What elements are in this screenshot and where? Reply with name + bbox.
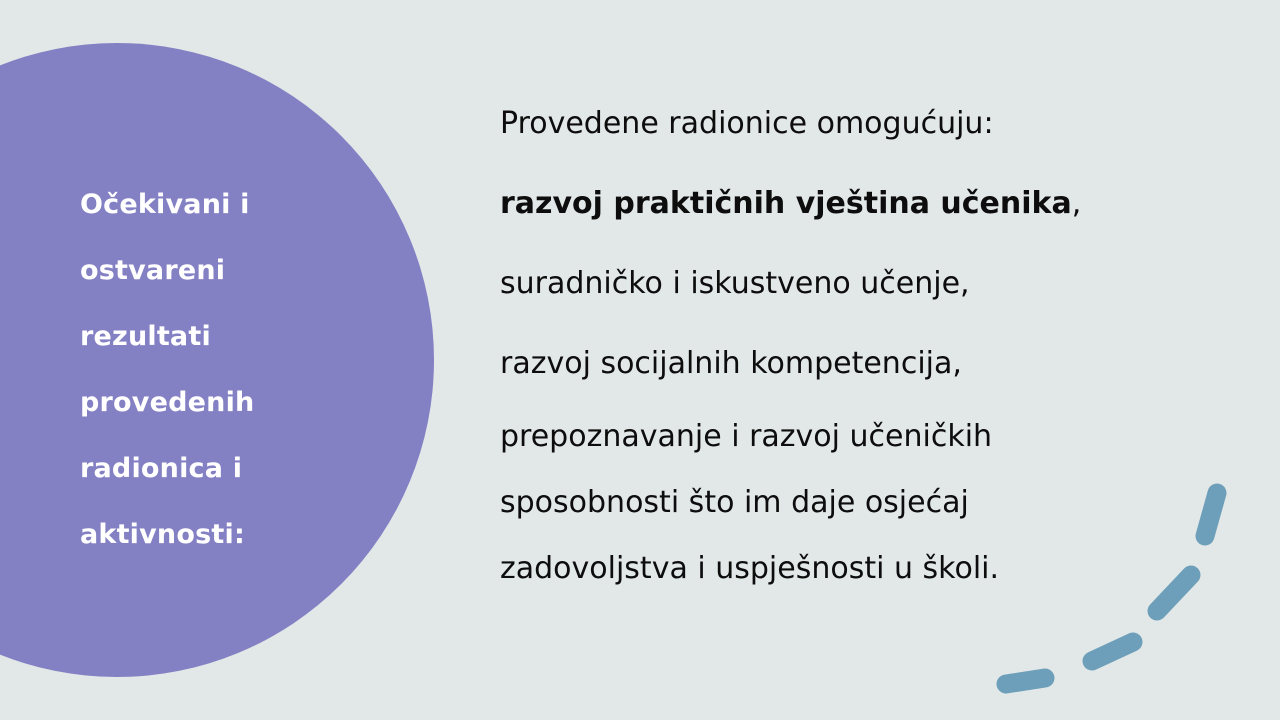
dash-stroke-4 [1006, 678, 1045, 684]
title-line-1: Očekivani i [80, 172, 380, 238]
body-line-highlight: razvoj praktičnih vještina učenika, [500, 164, 1200, 244]
body-line-6: sposobnosti što im daje osjećaj [500, 470, 1200, 536]
body-line-7: zadovoljstva i uspješnosti u školi. [500, 536, 1200, 602]
title-line-6: aktivnosti: [80, 502, 380, 568]
body-line-4: razvoj socijalnih kompetencija, [500, 324, 1200, 404]
body-content: Provedene radionice omogućuju: razvoj pr… [500, 84, 1200, 602]
body-bold-phrase-comma: , [1072, 186, 1082, 221]
body-line-3: suradničko i iskustveno učenje, [500, 244, 1200, 324]
slide-canvas: Očekivani i ostvareni rezultati proveden… [0, 0, 1280, 720]
body-line-5: prepoznavanje i razvoj učeničkih [500, 404, 1200, 470]
dash-stroke-1 [1205, 493, 1217, 536]
title-line-5: radionica i [80, 436, 380, 502]
body-intro-line: Provedene radionice omogućuju: [500, 84, 1200, 164]
title-line-3: rezultati [80, 304, 380, 370]
dash-stroke-3 [1092, 642, 1133, 661]
title-line-4: provedenih [80, 370, 380, 436]
page-title: Očekivani i ostvareni rezultati proveden… [80, 172, 380, 568]
title-line-2: ostvareni [80, 238, 380, 304]
body-bold-phrase: razvoj praktičnih vještina učenika [500, 186, 1072, 221]
